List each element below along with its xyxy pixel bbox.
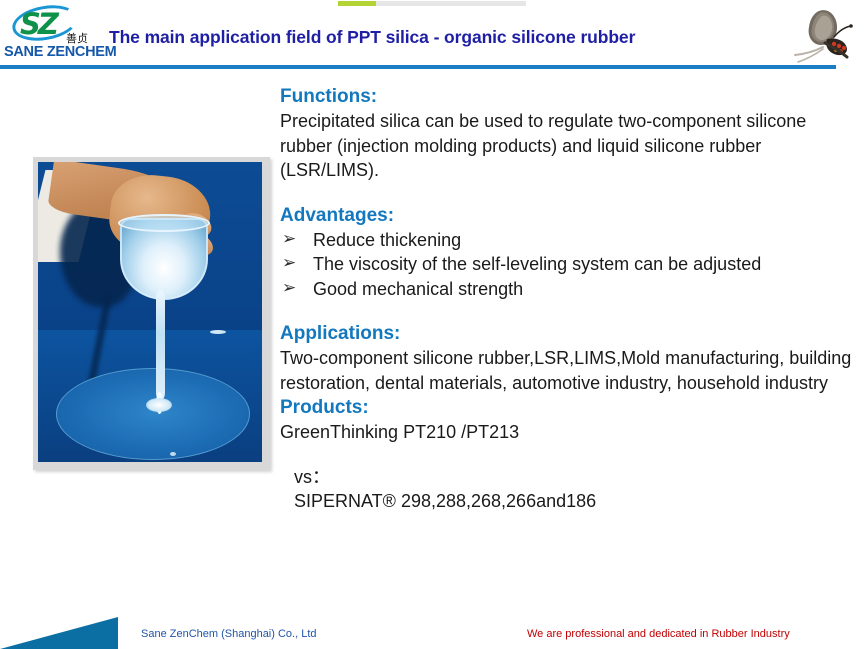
- functions-text: Precipitated silica can be used to regul…: [280, 109, 855, 183]
- photo-splash: [146, 398, 172, 412]
- page-title: The main application field of PPT silica…: [109, 27, 635, 48]
- product-photo-frame: [33, 157, 270, 470]
- footer-company-name: Sane ZenChem (Shanghai) Co., Ltd: [141, 628, 317, 640]
- functions-heading: Functions:: [280, 84, 855, 109]
- spacer-products: [280, 445, 855, 465]
- logo-monogram: SZ: [20, 8, 68, 40]
- arrow-bullet-icon: ➢: [282, 276, 296, 301]
- photo-beaker-rim: [118, 214, 210, 232]
- butterfly-icon: [789, 3, 863, 67]
- applications-text: Two-component silicone rubber,LSR,LIMS,M…: [280, 346, 855, 395]
- list-item: ➢ The viscosity of the self-leveling sys…: [280, 252, 855, 277]
- photo-silicone-puddle: [56, 368, 250, 460]
- slide-footer: 10 Sane ZenChem (Shanghai) Co., Ltd We a…: [0, 617, 865, 649]
- vs-competitor-text: SIPERNAT® 298,288,268,266and186: [294, 489, 855, 514]
- slide-body: Functions: Precipitated silica can be us…: [280, 84, 855, 514]
- products-text: GreenThinking PT210 /PT213: [280, 420, 855, 445]
- photo-highlight-bottom: [170, 452, 176, 456]
- products-heading: Products:: [280, 395, 855, 420]
- company-logo: SZ 善贞 SANE ZENCHEM: [4, 6, 104, 64]
- vs-label: vs：: [294, 465, 855, 490]
- photo-pouring-stream: [156, 290, 165, 400]
- footer-tagline: We are professional and dedicated in Rub…: [527, 628, 790, 640]
- photo-highlight-right: [210, 330, 226, 334]
- advantages-heading: Advantages:: [280, 203, 855, 228]
- applications-heading: Applications:: [280, 321, 855, 346]
- list-item: ➢ Reduce thickening: [280, 228, 855, 253]
- list-item-label: The viscosity of the self-leveling syste…: [313, 254, 761, 274]
- spacer-advantages: [280, 301, 855, 321]
- arrow-bullet-icon: ➢: [282, 251, 296, 276]
- page-number: 10: [10, 625, 27, 642]
- spacer-functions: [280, 183, 855, 203]
- logo-brand-name: SANE ZENCHEM: [4, 44, 116, 60]
- list-item-label: Reduce thickening: [313, 230, 461, 250]
- list-item: ➢ Good mechanical strength: [280, 277, 855, 302]
- header-divider: [0, 65, 836, 69]
- list-item-label: Good mechanical strength: [313, 279, 523, 299]
- slide-header: SZ 善贞 SANE ZENCHEM The main application …: [0, 0, 865, 72]
- product-photo: [38, 162, 262, 462]
- advantages-list: ➢ Reduce thickening ➢ The viscosity of t…: [280, 228, 855, 302]
- comparison-block: vs： SIPERNAT® 298,288,268,266and186: [294, 465, 855, 514]
- arrow-bullet-icon: ➢: [282, 227, 296, 252]
